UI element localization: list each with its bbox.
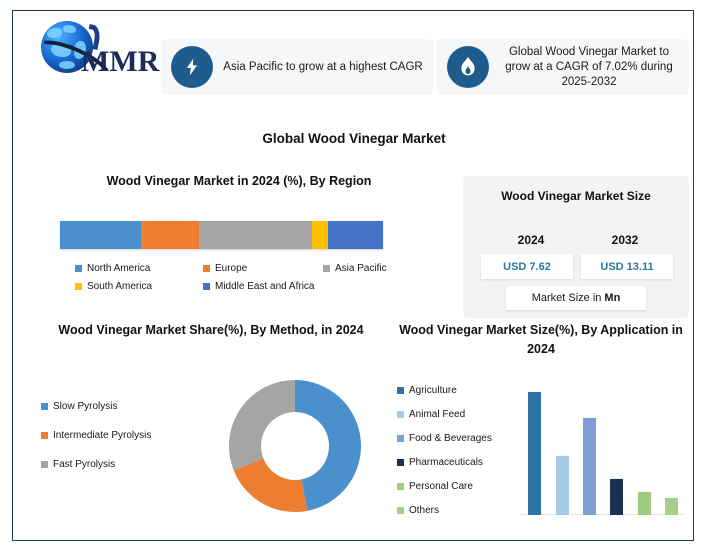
infographic-frame: MMR Asia Pacific to grow at a highest CA… [12, 10, 694, 541]
method-chart-title: Wood Vinegar Market Share(%), By Method,… [31, 321, 391, 340]
region-stacked-bar-chart: North America Europe Asia Pacific South … [57, 211, 435, 303]
region-bar-segment [60, 221, 141, 249]
application-bar-chart [521, 383, 685, 515]
swatch-icon [41, 403, 48, 410]
application-bar [583, 418, 596, 515]
method-legend-item-intermediate-pyrolysis[interactable]: Intermediate Pyrolysis [41, 430, 201, 441]
region-legend-item-middle-east-africa[interactable]: Middle East and Africa [203, 281, 315, 292]
application-bar [638, 492, 651, 515]
market-size-card: Wood Vinegar Market Size 2024 2032 USD 7… [463, 176, 689, 318]
header-badge-2-text: Global Wood Vinegar Market to grow at a … [489, 45, 689, 90]
application-chart-title: Wood Vinegar Market Size(%), By Applicat… [391, 321, 691, 359]
region-stacked-bar [60, 221, 383, 249]
flame-icon [447, 46, 489, 88]
market-size-value-end: USD 13.11 [581, 254, 673, 279]
swatch-icon [75, 283, 82, 290]
header: MMR Asia Pacific to grow at a highest CA… [13, 11, 695, 105]
donut-slice [234, 459, 308, 512]
donut-slice [295, 380, 361, 511]
application-legend-item-animal-feed[interactable]: Animal Feed [397, 409, 522, 420]
region-chart-title: Wood Vinegar Market in 2024 (%), By Regi… [33, 174, 445, 188]
application-legend-item-food-beverages[interactable]: Food & Beverages [397, 433, 522, 444]
swatch-icon [323, 265, 330, 272]
application-legend: Agriculture Animal Feed Food & Beverages… [397, 385, 522, 529]
region-bar-segment [328, 221, 383, 249]
swatch-icon [397, 411, 404, 418]
region-bar-segment [141, 221, 199, 249]
swatch-icon [397, 507, 404, 514]
application-legend-item-others[interactable]: Others [397, 505, 522, 516]
page-title: Global Wood Vinegar Market [13, 131, 695, 146]
application-bar [610, 479, 623, 515]
swatch-icon [397, 387, 404, 394]
donut-svg [225, 376, 365, 516]
market-size-unit-label: Market Size inMn [506, 286, 646, 310]
method-legend-item-fast-pyrolysis[interactable]: Fast Pyrolysis [41, 459, 201, 470]
application-bar [556, 456, 569, 515]
header-badge-market-cagr[interactable]: Global Wood Vinegar Market to grow at a … [437, 39, 689, 95]
lightning-bolt-icon [171, 46, 213, 88]
swatch-icon [203, 265, 210, 272]
swatch-icon [397, 483, 404, 490]
market-size-heading: Wood Vinegar Market Size [463, 187, 689, 205]
swatch-icon [41, 432, 48, 439]
method-legend-item-slow-pyrolysis[interactable]: Slow Pyrolysis [41, 401, 201, 412]
region-legend: North America Europe Asia Pacific South … [57, 263, 435, 299]
swatch-icon [203, 283, 210, 290]
application-bar [528, 392, 541, 515]
region-legend-item-europe[interactable]: Europe [203, 263, 247, 274]
chart-baseline [521, 514, 685, 515]
market-size-value-start: USD 7.62 [481, 254, 573, 279]
donut-slice [229, 380, 295, 470]
market-size-year-end: 2032 [579, 233, 671, 247]
application-legend-item-agriculture[interactable]: Agriculture [397, 385, 522, 396]
brand-name: MMR [81, 45, 159, 79]
region-legend-item-north-america[interactable]: North America [75, 263, 150, 274]
application-bar [665, 498, 678, 515]
region-legend-item-south-america[interactable]: South America [75, 281, 152, 292]
market-size-year-start: 2024 [485, 233, 577, 247]
header-badge-1-text: Asia Pacific to grow at a highest CAGR [213, 60, 433, 75]
region-bar-segment [199, 221, 312, 249]
region-legend-item-asia-pacific[interactable]: Asia Pacific [323, 263, 387, 274]
swatch-icon [397, 459, 404, 466]
application-legend-item-pharmaceuticals[interactable]: Pharmaceuticals [397, 457, 522, 468]
swatch-icon [75, 265, 82, 272]
brand-logo[interactable]: MMR [21, 19, 161, 93]
application-legend-item-personal-care[interactable]: Personal Care [397, 481, 522, 492]
method-legend: Slow Pyrolysis Intermediate Pyrolysis Fa… [41, 401, 201, 488]
region-bar-segment [312, 221, 328, 249]
swatch-icon [397, 435, 404, 442]
swatch-icon [41, 461, 48, 468]
header-badge-region-cagr[interactable]: Asia Pacific to grow at a highest CAGR [161, 39, 433, 95]
method-donut-chart [225, 376, 365, 516]
